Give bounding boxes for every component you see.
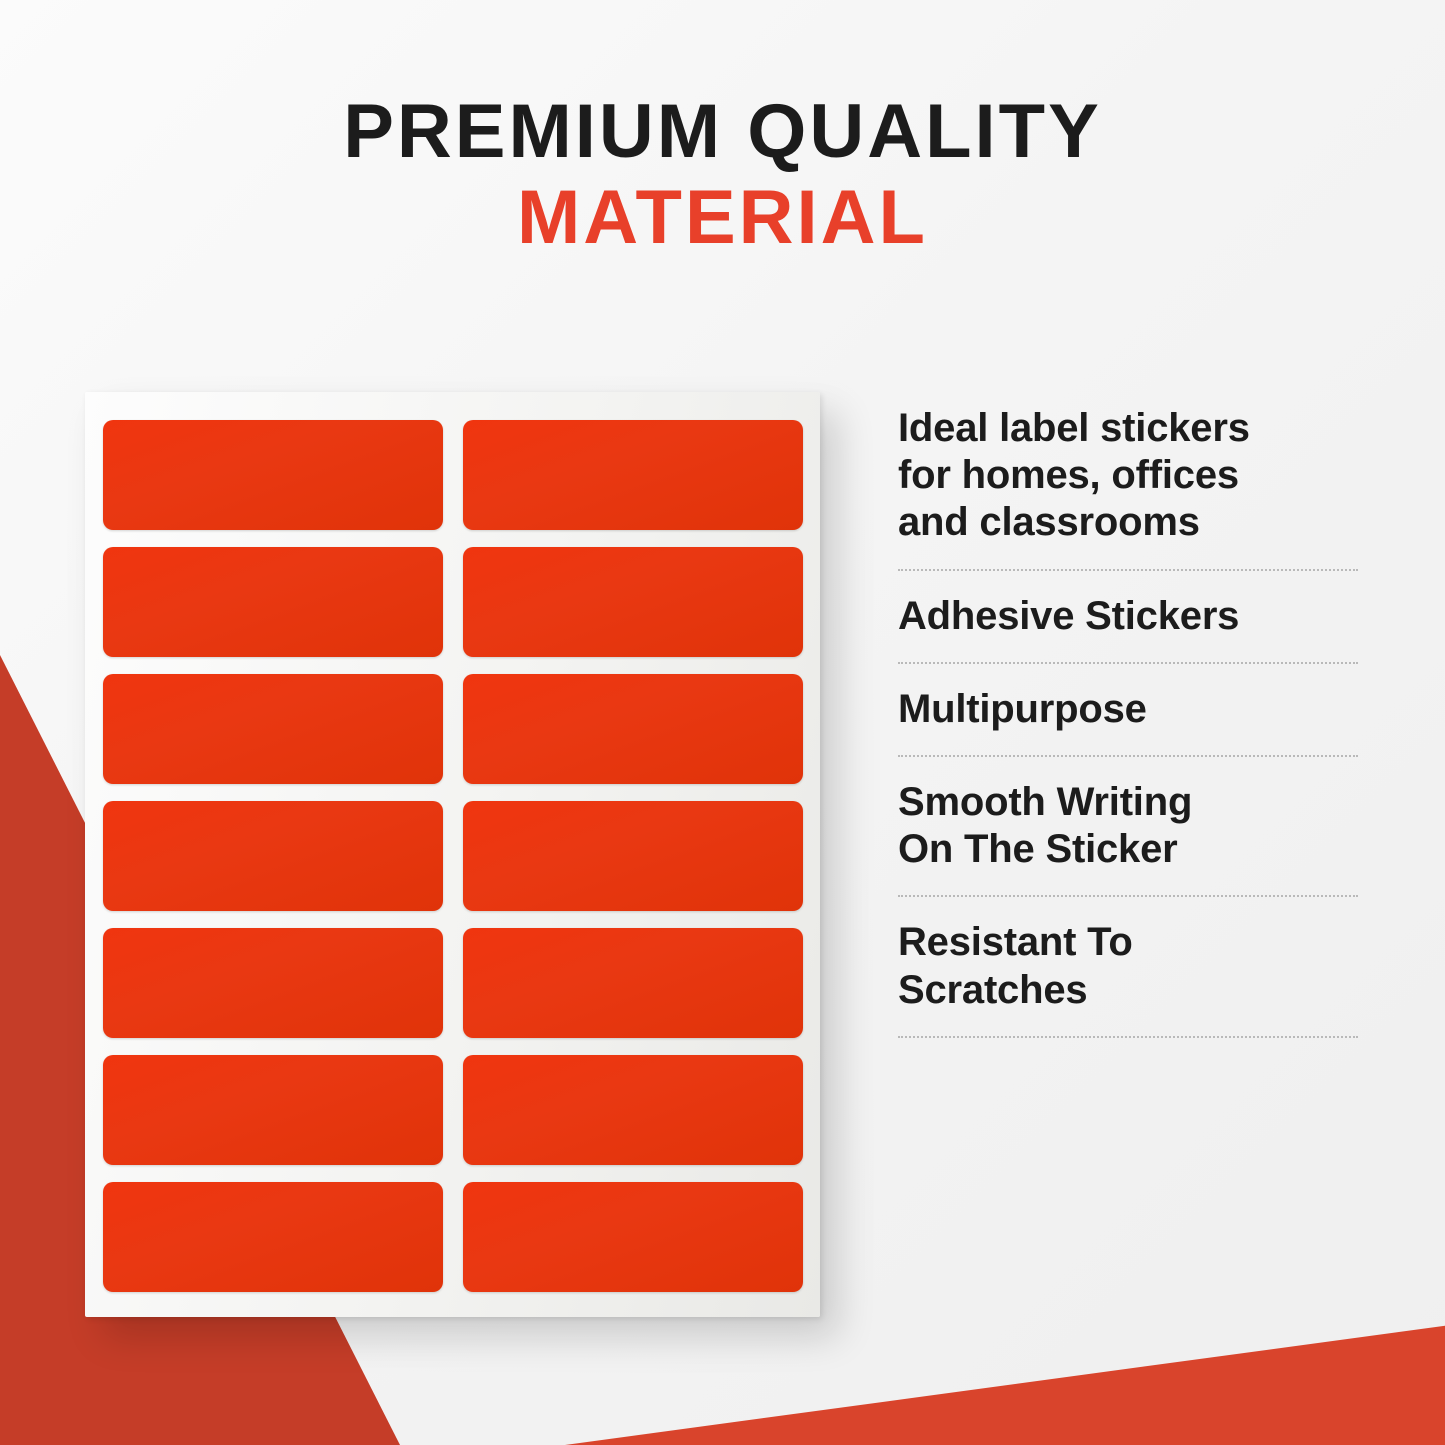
- feature-item: Smooth Writing On The Sticker: [898, 779, 1358, 895]
- sticker-label-grid: [100, 420, 805, 1300]
- feature-divider: [898, 895, 1358, 897]
- feature-label: Smooth Writing On The Sticker: [898, 779, 1358, 873]
- sticker-label: [103, 674, 443, 784]
- feature-divider: [898, 662, 1358, 664]
- feature-divider: [898, 1036, 1358, 1038]
- headline-block: PREMIUM QUALITY MATERIAL: [0, 92, 1445, 263]
- sticker-label: [103, 928, 443, 1038]
- feature-item: Ideal label stickers for homes, offices …: [898, 405, 1358, 569]
- sticker-label: [103, 420, 443, 530]
- feature-label: Resistant To Scratches: [898, 919, 1358, 1013]
- feature-label: Ideal label stickers for homes, offices …: [898, 405, 1358, 547]
- feature-item: Adhesive Stickers: [898, 593, 1358, 662]
- feature-divider: [898, 755, 1358, 757]
- sticker-label: [463, 1055, 803, 1165]
- sticker-label: [103, 801, 443, 911]
- sticker-label: [103, 1182, 443, 1292]
- feature-label: Multipurpose: [898, 686, 1358, 733]
- feature-list: Ideal label stickers for homes, offices …: [898, 405, 1358, 1060]
- headline-line-1: PREMIUM QUALITY: [0, 92, 1445, 172]
- sticker-label: [463, 801, 803, 911]
- sticker-label: [463, 1182, 803, 1292]
- sticker-label: [463, 420, 803, 530]
- sticker-label: [103, 547, 443, 657]
- sticker-label: [463, 928, 803, 1038]
- product-image: [85, 392, 820, 1317]
- feature-label: Adhesive Stickers: [898, 593, 1358, 640]
- sticker-label: [463, 547, 803, 657]
- headline-line-2: MATERIAL: [0, 172, 1445, 263]
- sticker-label: [463, 674, 803, 784]
- feature-divider: [898, 569, 1358, 571]
- feature-item: Resistant To Scratches: [898, 919, 1358, 1035]
- product-infographic-canvas: PREMIUM QUALITY MATERIAL Ideal label sti…: [0, 0, 1445, 1445]
- feature-item: Multipurpose: [898, 686, 1358, 755]
- sticker-label: [103, 1055, 443, 1165]
